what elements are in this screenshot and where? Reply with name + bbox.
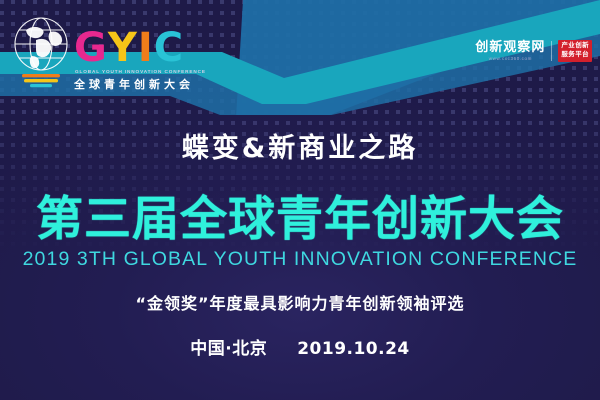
event-date: 2019.10.24 bbox=[297, 339, 410, 359]
page-title: 第三届全球青年创新大会 bbox=[0, 180, 600, 249]
tagline: 蝶变&新商业之路 bbox=[0, 126, 600, 165]
partner-badge: 产业创新 服务平台 bbox=[558, 40, 592, 62]
logo-letter-i: I bbox=[138, 28, 154, 68]
logo-letter-y: Y bbox=[108, 28, 138, 68]
conference-poster: GYIC GLOBAL YOUTH INNOVATION CONFERENCE … bbox=[0, 0, 600, 400]
award-line: “金领奖”年度最具影响力青年创新领袖评选 bbox=[0, 290, 600, 314]
partner-divider bbox=[551, 41, 552, 61]
partner-name: 创新观察网 bbox=[475, 40, 545, 54]
logo-english-subtitle: GLOBAL YOUTH INNOVATION CONFERENCE bbox=[75, 69, 206, 74]
partner-url: www.cxc360.com bbox=[475, 56, 545, 61]
event-location: 中国·北京 bbox=[190, 339, 267, 359]
english-subtitle: 2019 3TH GLOBAL YOUTH INNOVATION CONFERE… bbox=[0, 248, 600, 271]
partner-logo[interactable]: 创新观察网 www.cxc360.com 产业创新 服务平台 bbox=[475, 40, 592, 62]
partner-badge-line2: 服务平台 bbox=[561, 51, 589, 60]
globe-icon bbox=[12, 14, 70, 94]
logo-letter-c: C bbox=[154, 28, 184, 68]
gyic-wordmark: GYIC bbox=[74, 28, 184, 68]
partner-badge-line1: 产业创新 bbox=[561, 42, 589, 51]
event-meta: 中国·北京2019.10.24 bbox=[0, 334, 600, 359]
logo-chinese-subtitle: 全球青年创新大会 bbox=[74, 76, 194, 92]
logo-letter-g: G bbox=[74, 28, 108, 68]
partner-identity: 创新观察网 www.cxc360.com bbox=[475, 40, 545, 61]
gyic-logo: GYIC GLOBAL YOUTH INNOVATION CONFERENCE … bbox=[12, 14, 187, 96]
